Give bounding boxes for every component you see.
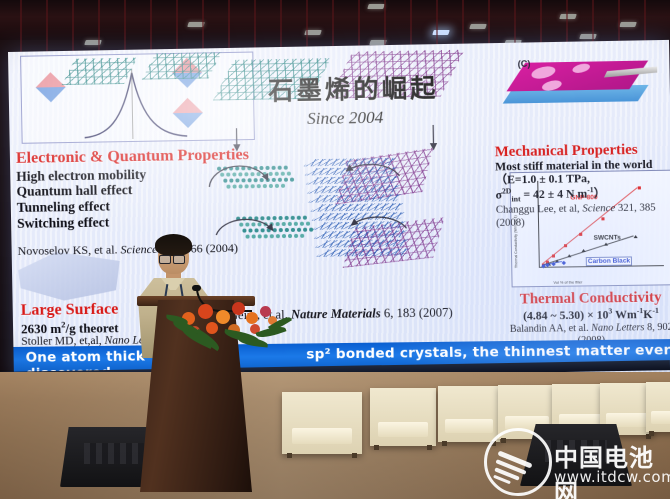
thermal-heading: Thermal Conductivity xyxy=(495,289,670,308)
ceiling-light xyxy=(432,30,450,35)
electronic-heading: Electronic & Quantum Properties xyxy=(16,146,249,168)
sigma-close-paren: ） xyxy=(594,188,606,200)
graphene-lattice-teal-2 xyxy=(142,52,222,80)
chart-x-axis-label: Vol % of the filler xyxy=(553,280,582,284)
section-mechanical: Mechanical Properties Most stiff materia… xyxy=(495,141,670,230)
speaker-hair xyxy=(155,234,192,256)
thermal-citation-journal: Nano Letters xyxy=(591,322,645,334)
flower-arrangement xyxy=(172,296,284,348)
flower-bloom xyxy=(198,304,213,319)
middle-citation-rest: 6, 183 (2007) xyxy=(384,305,453,320)
flower-bloom xyxy=(246,312,258,324)
chart-data-point xyxy=(561,261,565,265)
foliage-leaf xyxy=(238,336,269,347)
flower-bloom xyxy=(216,310,230,324)
curtain-fold xyxy=(98,0,100,56)
mechanical-citation-author: Changgu Lee, et al, xyxy=(496,204,580,216)
ceiling-light xyxy=(559,14,577,19)
watermark-url: www.itdcw.com xyxy=(554,468,670,486)
chart-series-label-carbon-black: Carbon Black xyxy=(586,256,633,266)
watermark-globe-icon xyxy=(484,428,552,496)
ceiling-light xyxy=(367,4,385,9)
electronic-citation-author: Novoselov KS, et al. xyxy=(18,243,118,258)
afm-panel-label: (C) xyxy=(518,59,531,69)
mechanical-citation: Changgu Lee, et al, Science 321, 385 (20… xyxy=(496,202,670,229)
watermark: 中国电池网 www.itdcw.com xyxy=(484,424,668,494)
ceiling-light xyxy=(579,34,597,39)
speaker-glasses-left xyxy=(159,255,171,264)
sigma-superscript: 2D xyxy=(502,187,512,196)
curtain-fold xyxy=(20,0,22,56)
slide-subtitle: Since 2004 xyxy=(307,108,384,129)
dirac-cone-left xyxy=(35,72,66,103)
flower-bloom xyxy=(206,322,218,334)
armchair xyxy=(370,388,436,446)
thermal-units-exp2: -1 xyxy=(652,306,659,315)
surface-value-rest: /g theoret xyxy=(65,320,118,336)
speaker-glasses-right xyxy=(173,255,185,264)
thermal-value-pre: (4.84 ~ 5.30) × 10 xyxy=(523,309,609,322)
curtain-fold xyxy=(124,0,126,56)
flower-bloom xyxy=(232,302,245,315)
thermal-units-pre: Wm xyxy=(612,309,637,321)
curtain-fold xyxy=(176,0,178,56)
ceiling-light xyxy=(469,24,487,29)
electronic-bullet-4: Switching effect xyxy=(17,212,250,231)
curtain-fold xyxy=(72,0,74,56)
thermal-citation-author: Balandin AA, et al. xyxy=(510,323,589,335)
mechanical-citation-journal: Science xyxy=(582,203,615,215)
afm-indentation-figure: (C) xyxy=(505,54,668,109)
curtain-fold xyxy=(150,0,152,56)
chart-data-point xyxy=(633,235,637,238)
microphone-head xyxy=(192,285,201,291)
ceiling-light xyxy=(619,22,637,27)
flower-bloom xyxy=(260,306,271,317)
chart-series-label-swcnts: SWCNTs xyxy=(594,234,621,241)
sigma-value: = 42 ± 4 N m xyxy=(520,189,587,202)
projection-screen: (C) Thermal Conductivity (Wm-1K-1) Vol %… xyxy=(8,40,670,382)
surface-value-pre: 2630 m xyxy=(21,320,61,336)
conference-photo: (C) Thermal Conductivity (Wm-1K-1) Vol %… xyxy=(0,0,670,499)
thermal-units-mid: K xyxy=(643,309,652,321)
middle-citation-journal: Nature Materials xyxy=(291,306,381,321)
curtain-fold xyxy=(46,0,48,56)
armchair xyxy=(282,392,362,454)
slide-title: 石墨烯的崛起 xyxy=(268,68,439,107)
